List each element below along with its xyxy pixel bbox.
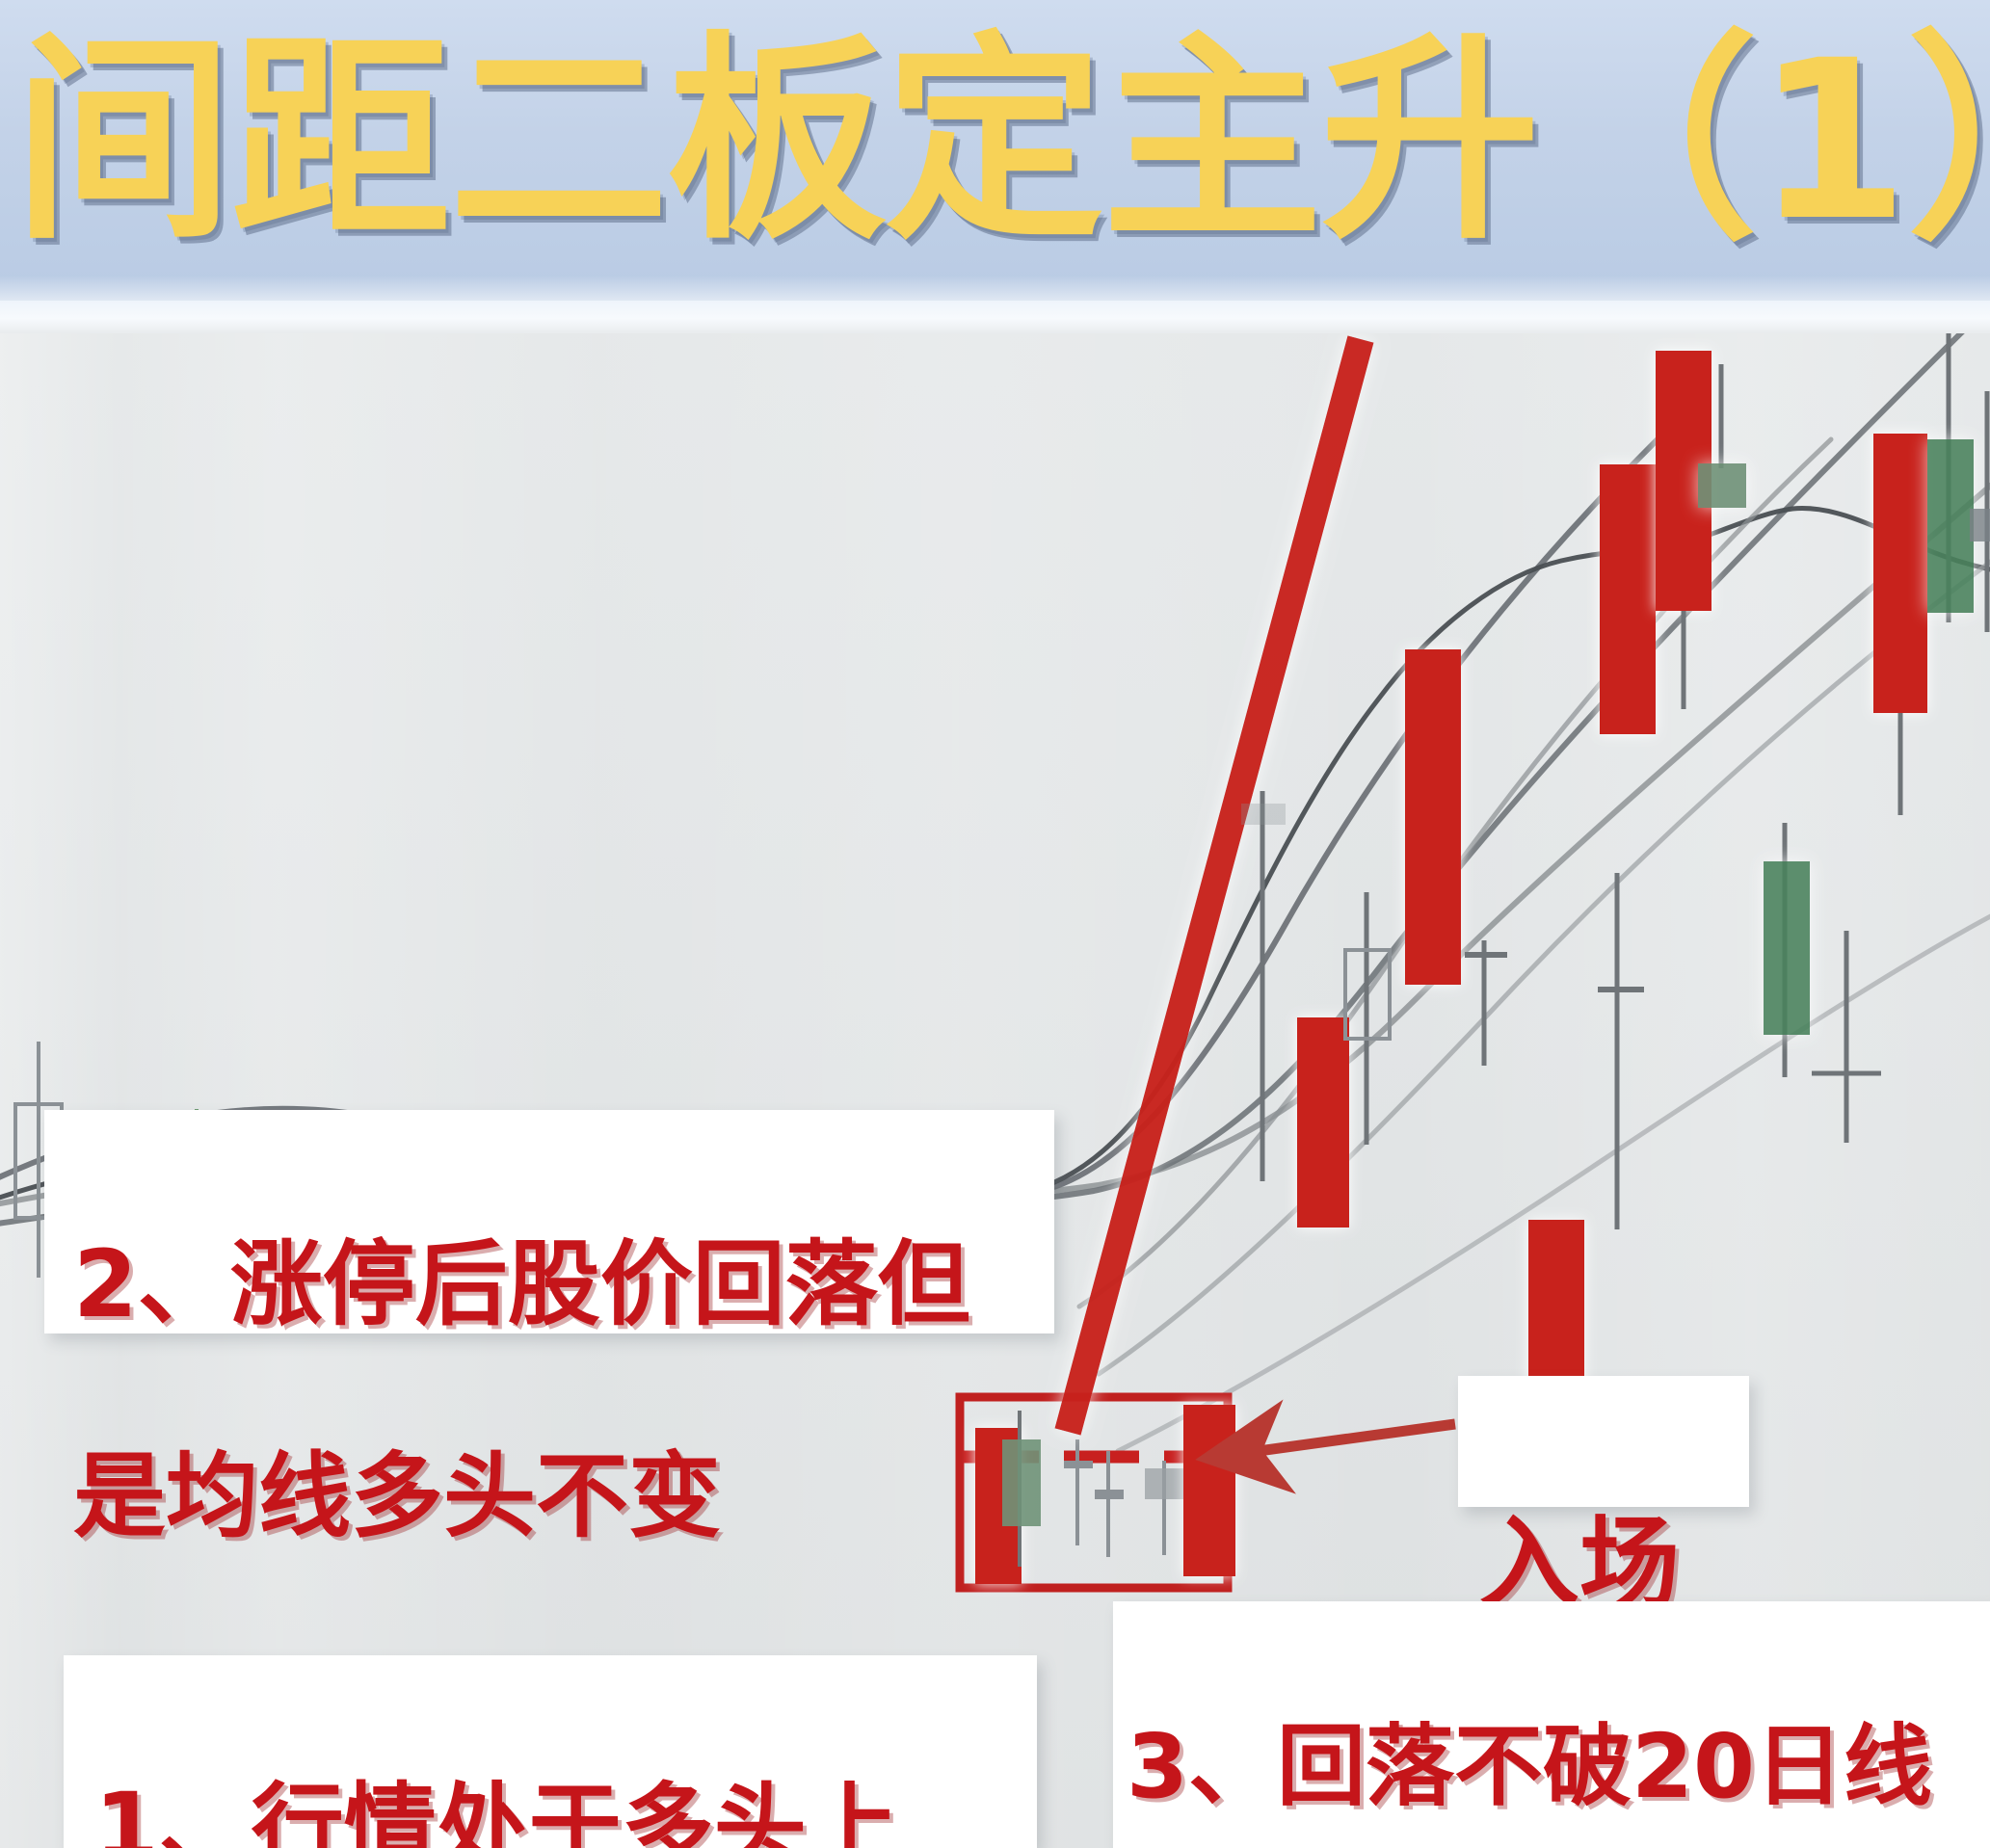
twenty-day-line-note-line1: 3、回落不破20日线 <box>1127 1713 1982 1821</box>
candle-series-rally <box>1241 333 1990 1393</box>
twenty-day-line-note: 3、回落不破20日线 并在5日内再次涨停 <box>1113 1601 1990 1848</box>
candle-second-limit-up-entry <box>1183 1405 1235 1576</box>
main-uptrend-line <box>1068 339 1361 1432</box>
candle-r4 <box>1405 649 1461 985</box>
entry-arrow <box>1216 1424 1455 1457</box>
banner-seam-divider <box>0 301 1990 333</box>
candle-r12-doji <box>1812 931 1881 1143</box>
candle-inside-small-03 <box>1145 1461 1185 1555</box>
candle-inside-small-02 <box>1095 1451 1124 1557</box>
candle-r14-green <box>1927 333 1974 622</box>
pullback-ma-note-line2: 是均线多头不变 <box>73 1443 1031 1549</box>
page-title: 间距二板定主升（1） <box>13 0 1990 285</box>
pullback-ma-note: 2、涨停后股价回落但 是均线多头不变 <box>44 1110 1054 1333</box>
candle-r8 <box>1600 464 1656 734</box>
candle-r7 <box>1598 873 1644 1229</box>
uptrend-stage-note-line1: 1、行情处于多头上 <box>94 1773 1014 1848</box>
candle-r11-green <box>1764 823 1810 1077</box>
title-banner: 间距二板定主升（1） <box>0 0 1990 301</box>
slide-root: 间距二板定主升（1） <box>0 0 1990 1848</box>
entry-label: 入场 <box>1458 1376 1749 1507</box>
candle-r2 <box>1297 1017 1349 1228</box>
candle-r13 <box>1873 434 1927 815</box>
uptrend-stage-note: 1、行情处于多头上 行阶段 <box>64 1655 1037 1848</box>
pullback-ma-note-line1: 2、涨停后股价回落但 <box>73 1231 1031 1337</box>
candle-r6 <box>1528 1220 1584 1393</box>
candle-r9 <box>1656 351 1711 709</box>
